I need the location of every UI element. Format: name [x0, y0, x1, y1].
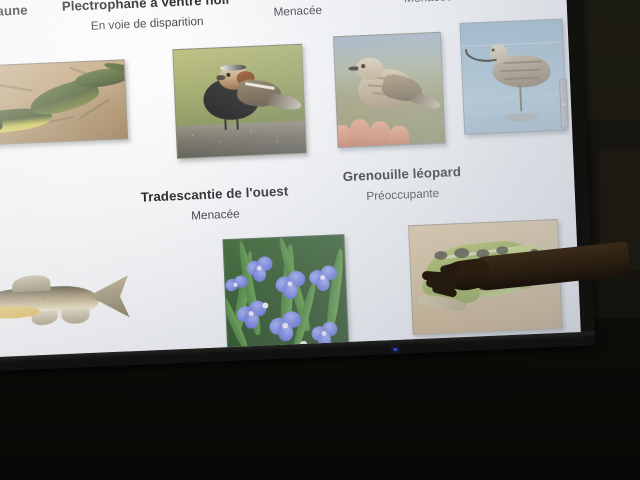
- species-image-courlis[interactable]: [459, 19, 567, 135]
- species-name-couleuvre: vre agile à ventre jaune: [0, 2, 57, 26]
- species-card-tradescantie[interactable]: Tradescantie de l'ouest Menacée: [114, 183, 315, 226]
- species-card-grenouille[interactable]: Grenouille léopard Préoccupante: [302, 163, 503, 206]
- species-status-grenouille: Préoccupante: [303, 184, 503, 206]
- species-image-couleuvre[interactable]: [0, 59, 128, 145]
- species-status-courlis: Menacée: [348, 0, 508, 8]
- presentation-slide: vre agile à ventre jaune nacée: [0, 0, 581, 360]
- wall-panel-lower: [600, 150, 640, 270]
- photo-scene: vre agile à ventre jaune nacée: [0, 0, 640, 480]
- species-image-naseux[interactable]: [0, 269, 140, 338]
- species-card-couleuvre[interactable]: vre agile à ventre jaune nacée: [0, 2, 58, 45]
- species-image-tradescantie[interactable]: [222, 234, 349, 354]
- species-card-plectrophane[interactable]: Plectrophane à ventre noir En voie de di…: [56, 0, 237, 34]
- species-card-courlis[interactable]: Courlis à long bec Menacée: [347, 0, 508, 8]
- species-status-tradescantie: Menacée: [115, 204, 315, 226]
- species-image-plectrophane[interactable]: [172, 44, 307, 159]
- display-screen[interactable]: vre agile à ventre jaune nacée: [0, 0, 581, 360]
- species-status-couleuvre: nacée: [0, 23, 58, 45]
- holding-hand: [333, 115, 415, 148]
- species-image-pipit[interactable]: [333, 32, 446, 149]
- species-name-naseux: er de montagne: [0, 202, 45, 225]
- species-card-naseux[interactable]: er de montagne enacée: [0, 202, 46, 244]
- wall-display: vre agile à ventre jaune nacée: [0, 0, 595, 374]
- power-led: [393, 348, 397, 351]
- species-name-tradescantie: Tradescantie de l'ouest: [114, 183, 314, 206]
- species-name-plectrophane: Plectrophane à ventre noir: [56, 0, 236, 15]
- species-status-naseux: enacée: [0, 223, 46, 245]
- species-name-grenouille: Grenouille léopard: [302, 163, 502, 186]
- species-status-plectrophane: En voie de disparition: [57, 13, 237, 34]
- species-image-grenouille[interactable]: [408, 219, 563, 335]
